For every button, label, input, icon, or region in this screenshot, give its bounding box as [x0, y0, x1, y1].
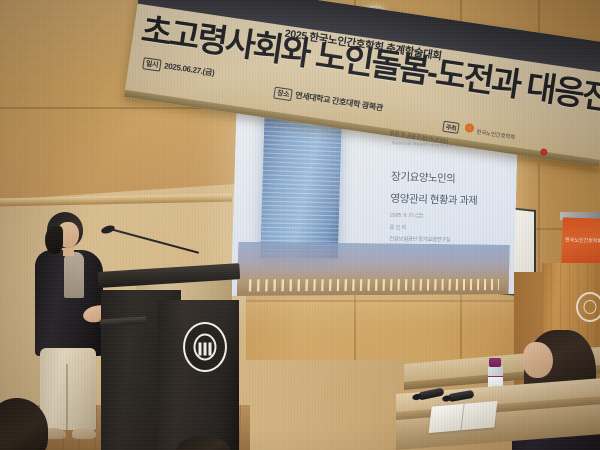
conference-photo: National Health Insurance Service 장기요양노인…: [0, 0, 600, 450]
sponsor-logo-icon: [464, 123, 474, 133]
banner-host-tag: 주최: [442, 121, 460, 134]
banner-place-tag: 장소: [273, 87, 293, 102]
banner-date-tag: 일시: [142, 57, 162, 72]
speaker-hair-side: [45, 226, 63, 254]
yonsei-university-emblem-icon: [183, 322, 227, 372]
slide-title-line1: 장기요양노인의: [391, 168, 456, 186]
slide-date: 2025. 6. 27.(금): [390, 211, 423, 219]
banner-date-value: 2025.06.27.(금): [163, 61, 215, 77]
seated-person-face: [523, 342, 553, 378]
slide-title-line2: 영양관리 현황과 과제: [390, 189, 477, 207]
water-bottle-cap: [489, 358, 501, 367]
speaker-shoe: [72, 428, 96, 439]
orange-banner-text: 한국노인간호학회: [565, 236, 600, 244]
banner-place-value: 연세대학교 간호대학 광복관: [295, 91, 384, 113]
speaker-shirt: [64, 252, 84, 298]
slide-presenter: 홍 진 희: [389, 223, 406, 231]
speaker-trousers: [40, 348, 96, 430]
slide-affiliation: 건강보험공단 장기요양연구실: [389, 235, 450, 243]
circular-emblem-icon: [576, 292, 600, 322]
banner-host-value: 한국노인간호학회: [476, 128, 516, 142]
slide-base-building: [237, 241, 510, 296]
